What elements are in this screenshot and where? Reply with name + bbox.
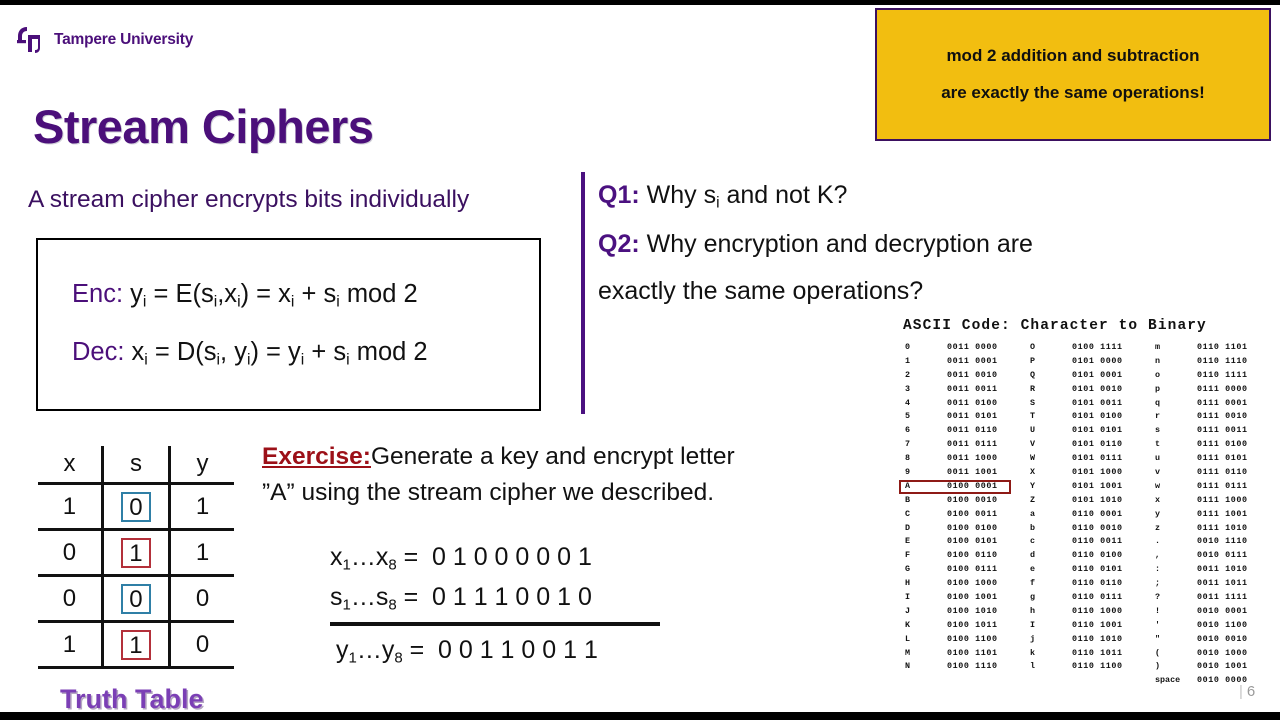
ascii-character: D <box>903 522 947 536</box>
bit-computation: x1…x8 = 0 1 0 0 0 0 0 1 s1…s8 = 0 1 1 1 … <box>330 543 690 676</box>
ascii-character: d <box>1028 549 1072 563</box>
ascii-binary: 0010 0111 <box>1197 549 1248 563</box>
ascii-row: A0100 0001 <box>903 480 1028 494</box>
cell-s: 0 <box>102 484 169 530</box>
table-row: 1 0 1 <box>38 484 234 530</box>
ascii-row: x0111 1000 <box>1153 494 1278 508</box>
ascii-character: f <box>1028 577 1072 591</box>
truth-table-header-s: s <box>102 446 169 484</box>
ascii-row: q0111 0001 <box>1153 397 1278 411</box>
ascii-binary: 0110 0001 <box>1072 508 1123 522</box>
ascii-character: X <box>1028 466 1072 480</box>
ascii-character: g <box>1028 591 1072 605</box>
ascii-binary: 0110 0011 <box>1072 535 1123 549</box>
ascii-binary: 0100 1011 <box>947 619 998 633</box>
ascii-column-3: m0110 1101n0110 1110o0110 1111p0111 0000… <box>1153 341 1278 688</box>
page-number-separator: | <box>1239 683 1243 700</box>
ascii-row: y0111 1001 <box>1153 508 1278 522</box>
ascii-binary: 0100 0100 <box>947 522 998 536</box>
ascii-row: F0100 0110 <box>903 549 1028 563</box>
ascii-binary: 0011 0110 <box>947 424 998 438</box>
ascii-binary: 0110 1010 <box>1072 633 1123 647</box>
ascii-row: k0110 1011 <box>1028 647 1153 661</box>
highlight-box-red: 1 <box>121 538 151 568</box>
ascii-row: G0100 0111 <box>903 563 1028 577</box>
ascii-row: D0100 0100 <box>903 522 1028 536</box>
ascii-row: s0111 0011 <box>1153 424 1278 438</box>
ascii-character: p <box>1153 383 1197 397</box>
ascii-row: O0100 1111 <box>1028 341 1153 355</box>
table-row: 1 1 0 <box>38 622 234 668</box>
ciphertext-bits: 0 0 1 1 0 0 1 1 <box>438 636 598 665</box>
ascii-row: C0100 0011 <box>903 508 1028 522</box>
ascii-column-2: O0100 1111P0101 0000Q0101 0001R0101 0010… <box>1028 341 1153 688</box>
ascii-column-1: 00011 000010011 000120011 001030011 0011… <box>903 341 1028 688</box>
cell-x: 1 <box>38 622 102 668</box>
ascii-character: L <box>903 633 947 647</box>
ascii-row: J0100 1010 <box>903 605 1028 619</box>
ascii-character: H <box>903 577 947 591</box>
truth-table-header-row: x s y <box>38 446 234 484</box>
page-number-value: 6 <box>1247 683 1255 700</box>
ascii-character: A <box>903 480 947 494</box>
formula-box: Enc: yi = E(si,xi) = xi + si mod 2 Dec: … <box>36 238 541 411</box>
ascii-row: r0111 0010 <box>1153 410 1278 424</box>
ascii-row: U0101 0101 <box>1028 424 1153 438</box>
ascii-binary: 0100 0001 <box>947 480 998 494</box>
question-2-continued: exactly the same operations? <box>598 276 1158 307</box>
ascii-binary: 0110 1001 <box>1072 619 1123 633</box>
ascii-binary: 0100 0111 <box>947 563 998 577</box>
q2-tag: Q2: <box>598 230 640 258</box>
ascii-binary: 0111 0101 <box>1197 452 1248 466</box>
ascii-character: U <box>1028 424 1072 438</box>
ascii-binary: 0011 0111 <box>947 438 998 452</box>
ascii-character: K <box>903 619 947 633</box>
ascii-binary: 0011 1011 <box>1197 577 1248 591</box>
ascii-row: ?0011 1111 <box>1153 591 1278 605</box>
ascii-character: Z <box>1028 494 1072 508</box>
ascii-character: 6 <box>903 424 947 438</box>
ciphertext-label: y1…y8 = <box>336 636 438 667</box>
ascii-row: t0111 0100 <box>1153 438 1278 452</box>
keystream-bits: 0 1 1 1 0 0 1 0 <box>432 583 592 612</box>
ascii-character: B <box>903 494 947 508</box>
ascii-row: (0010 1000 <box>1153 647 1278 661</box>
ascii-row: H0100 1000 <box>903 577 1028 591</box>
ascii-character: F <box>903 549 947 563</box>
ascii-row: )0010 1001 <box>1153 660 1278 674</box>
ascii-row: b0110 0010 <box>1028 522 1153 536</box>
ascii-character: o <box>1153 369 1197 383</box>
ascii-character: z <box>1153 522 1197 536</box>
ciphertext-bits-row: y1…y8 = 0 0 1 1 0 0 1 1 <box>336 636 690 667</box>
ascii-row: j0110 1010 <box>1028 633 1153 647</box>
ascii-binary: 0100 1111 <box>1072 341 1123 355</box>
truth-table-caption: Truth Table <box>60 684 204 715</box>
ascii-character: ' <box>1153 619 1197 633</box>
page-title: Stream Ciphers <box>33 99 373 154</box>
question-2: Q2: Why encryption and decryption are <box>598 229 1158 260</box>
ascii-row: B0100 0010 <box>903 494 1028 508</box>
ascii-character: 1 <box>903 355 947 369</box>
ascii-character: " <box>1153 633 1197 647</box>
ascii-binary: 0011 0100 <box>947 397 998 411</box>
cell-y: 1 <box>170 484 234 530</box>
ascii-row: 20011 0010 <box>903 369 1028 383</box>
ascii-character: 0 <box>903 341 947 355</box>
highlight-box-blue: 0 <box>121 492 151 522</box>
ascii-binary: 0011 1111 <box>1197 591 1248 605</box>
ascii-binary: 0101 0110 <box>1072 438 1123 452</box>
ascii-row: 70011 0111 <box>903 438 1028 452</box>
truth-table: x s y 1 0 1 0 1 1 0 0 0 1 1 0 <box>38 446 234 669</box>
ascii-row: 30011 0011 <box>903 383 1028 397</box>
ascii-character: 7 <box>903 438 947 452</box>
ascii-row: e0110 0101 <box>1028 563 1153 577</box>
ascii-binary: 0111 1010 <box>1197 522 1248 536</box>
ascii-row: space0010 0000 <box>1153 674 1278 688</box>
exercise-line-2: ”A” using the stream cipher we described… <box>262 477 862 508</box>
ascii-row: 50011 0101 <box>903 410 1028 424</box>
ascii-table-title: ASCII Code: Character to Binary <box>903 318 1278 334</box>
ascii-row: X0101 1000 <box>1028 466 1153 480</box>
ascii-row: 80011 1000 <box>903 452 1028 466</box>
ascii-character: I <box>903 591 947 605</box>
ascii-row: I0100 1001 <box>903 591 1028 605</box>
ascii-row: 90011 1001 <box>903 466 1028 480</box>
ascii-character: v <box>1153 466 1197 480</box>
ascii-binary: 0011 1000 <box>947 452 998 466</box>
ascii-binary: 0100 1100 <box>947 633 998 647</box>
ascii-row: I0110 1001 <box>1028 619 1153 633</box>
ascii-row: Y0101 1001 <box>1028 480 1153 494</box>
ascii-character: j <box>1028 633 1072 647</box>
ascii-binary: 0100 1101 <box>947 647 998 661</box>
logo-text: Tampere University <box>54 31 193 49</box>
ascii-character: 3 <box>903 383 947 397</box>
ascii-binary: 0011 0011 <box>947 383 998 397</box>
ascii-character: ( <box>1153 647 1197 661</box>
cell-y: 0 <box>170 622 234 668</box>
ascii-character: W <box>1028 452 1072 466</box>
ascii-character: 4 <box>903 397 947 411</box>
ascii-row: p0111 0000 <box>1153 383 1278 397</box>
plaintext-bits: 0 1 0 0 0 0 0 1 <box>432 543 592 572</box>
ascii-row: z0111 1010 <box>1153 522 1278 536</box>
top-letterbox-bar <box>0 0 1280 5</box>
ascii-character: a <box>1028 508 1072 522</box>
ascii-character: C <box>903 508 947 522</box>
ascii-character: E <box>903 535 947 549</box>
slide-root: Tampere University mod 2 addition and su… <box>0 0 1280 720</box>
q1-tag: Q1: <box>598 181 640 209</box>
ascii-row: ;0011 1011 <box>1153 577 1278 591</box>
encryption-formula: Enc: yi = E(si,xi) = xi + si mod 2 <box>38 280 539 312</box>
ascii-character: M <box>903 647 947 661</box>
ascii-character: b <box>1028 522 1072 536</box>
ascii-row: c0110 0011 <box>1028 535 1153 549</box>
ascii-character: P <box>1028 355 1072 369</box>
ascii-binary: 0110 1011 <box>1072 647 1123 661</box>
ascii-binary: 0011 0000 <box>947 341 998 355</box>
callout-box: mod 2 addition and subtraction are exact… <box>875 8 1271 141</box>
ascii-character: T <box>1028 410 1072 424</box>
ascii-row: v0111 0110 <box>1153 466 1278 480</box>
ascii-row: !0010 0001 <box>1153 605 1278 619</box>
ascii-binary: 0111 0011 <box>1197 424 1248 438</box>
ascii-character: u <box>1153 452 1197 466</box>
callout-line-2: are exactly the same operations! <box>941 84 1205 103</box>
ascii-character: space <box>1153 674 1197 688</box>
ascii-binary: 0110 1111 <box>1197 369 1248 383</box>
ascii-binary: 0010 1100 <box>1197 619 1248 633</box>
ascii-character: 9 <box>903 466 947 480</box>
plaintext-bits-row: x1…x8 = 0 1 0 0 0 0 0 1 <box>330 543 690 574</box>
ascii-row: 10011 0001 <box>903 355 1028 369</box>
ascii-character: 8 <box>903 452 947 466</box>
ascii-binary: 0100 0101 <box>947 535 998 549</box>
ascii-character: G <box>903 563 947 577</box>
ascii-character: : <box>1153 563 1197 577</box>
ascii-binary: 0110 0110 <box>1072 577 1123 591</box>
ascii-character: J <box>903 605 947 619</box>
question-1: Q1: Why si and not K? <box>598 180 1158 213</box>
truth-table-header-y: y <box>170 446 234 484</box>
vertical-divider <box>581 172 585 414</box>
ascii-row: E0100 0101 <box>903 535 1028 549</box>
ascii-row: w0111 0111 <box>1153 480 1278 494</box>
ascii-character: c <box>1028 535 1072 549</box>
ascii-binary: 0110 0100 <box>1072 549 1123 563</box>
ascii-row: :0011 1010 <box>1153 563 1278 577</box>
ascii-character: O <box>1028 341 1072 355</box>
ascii-binary: 0110 1000 <box>1072 605 1123 619</box>
ascii-binary: 0101 1010 <box>1072 494 1123 508</box>
exercise-line-1: Exercise:Generate a key and encrypt lett… <box>262 441 862 472</box>
ascii-binary: 0100 0110 <box>947 549 998 563</box>
ascii-character: 5 <box>903 410 947 424</box>
ascii-binary: 0101 1000 <box>1072 466 1123 480</box>
ascii-binary: 0010 1000 <box>1197 647 1248 661</box>
ascii-binary: 0111 0001 <box>1197 397 1248 411</box>
ascii-row: P0101 0000 <box>1028 355 1153 369</box>
ascii-table: ASCII Code: Character to Binary 00011 00… <box>903 318 1278 688</box>
ascii-character: ? <box>1153 591 1197 605</box>
ascii-character: Q <box>1028 369 1072 383</box>
cell-y: 1 <box>170 530 234 576</box>
highlight-box-blue: 0 <box>121 584 151 614</box>
ascii-row: m0110 1101 <box>1153 341 1278 355</box>
questions-block: Q1: Why si and not K? Q2: Why encryption… <box>598 180 1158 324</box>
ascii-row: L0100 1100 <box>903 633 1028 647</box>
exercise-block: Exercise:Generate a key and encrypt lett… <box>262 441 862 514</box>
ascii-binary: 0111 1000 <box>1197 494 1248 508</box>
ascii-binary: 0100 1110 <box>947 660 998 674</box>
ascii-binary: 0111 1001 <box>1197 508 1248 522</box>
ascii-character: m <box>1153 341 1197 355</box>
ascii-row: h0110 1000 <box>1028 605 1153 619</box>
ascii-character: N <box>903 660 947 674</box>
ascii-binary: 0110 0010 <box>1072 522 1123 536</box>
ascii-row: "0010 0010 <box>1153 633 1278 647</box>
ascii-character: , <box>1153 549 1197 563</box>
keystream-label: s1…s8 = <box>330 583 432 614</box>
ascii-character: I <box>1028 619 1072 633</box>
exercise-tag: Exercise: <box>262 443 371 470</box>
ascii-binary: 0110 1110 <box>1197 355 1248 369</box>
ascii-character: q <box>1153 397 1197 411</box>
ascii-row: Z0101 1010 <box>1028 494 1153 508</box>
sum-divider-rule <box>330 622 660 626</box>
cell-s: 0 <box>102 576 169 622</box>
ascii-binary: 0100 1010 <box>947 605 998 619</box>
enc-expression: yi = E(si,xi) = xi + si mod 2 <box>130 280 418 308</box>
truth-table-grid: x s y 1 0 1 0 1 1 0 0 0 1 1 0 <box>38 446 234 669</box>
ascii-row: ,0010 0111 <box>1153 549 1278 563</box>
ascii-row: T0101 0100 <box>1028 410 1153 424</box>
ascii-binary: 0111 0010 <box>1197 410 1248 424</box>
ascii-binary: 0011 0101 <box>947 410 998 424</box>
ascii-character: ) <box>1153 660 1197 674</box>
ascii-binary: 0101 0101 <box>1072 424 1123 438</box>
cell-x: 0 <box>38 530 102 576</box>
ascii-binary: 0100 1000 <box>947 577 998 591</box>
ascii-row: K0100 1011 <box>903 619 1028 633</box>
ascii-character: x <box>1153 494 1197 508</box>
ascii-binary: 0010 1110 <box>1197 535 1248 549</box>
decryption-formula: Dec: xi = D(si, yi) = yi + si mod 2 <box>38 338 539 370</box>
cell-s: 1 <box>102 622 169 668</box>
ascii-binary: 0101 0010 <box>1072 383 1123 397</box>
ascii-character: e <box>1028 563 1072 577</box>
subtitle: A stream cipher encrypts bits individual… <box>28 186 469 214</box>
ascii-character: R <box>1028 383 1072 397</box>
ascii-row: 40011 0100 <box>903 397 1028 411</box>
table-row: 0 0 0 <box>38 576 234 622</box>
dec-expression: xi = D(si, yi) = yi + si mod 2 <box>132 338 428 366</box>
ascii-row: l0110 1100 <box>1028 660 1153 674</box>
ascii-character: S <box>1028 397 1072 411</box>
ascii-binary: 0010 0010 <box>1197 633 1248 647</box>
table-row: 0 1 1 <box>38 530 234 576</box>
ascii-binary: 0010 0001 <box>1197 605 1248 619</box>
ascii-binary: 0011 1001 <box>947 466 998 480</box>
keystream-bits-row: s1…s8 = 0 1 1 1 0 0 1 0 <box>330 583 690 614</box>
ascii-binary: 0101 1001 <box>1072 480 1123 494</box>
ascii-row: n0110 1110 <box>1153 355 1278 369</box>
cell-x: 1 <box>38 484 102 530</box>
ascii-character: t <box>1153 438 1197 452</box>
cell-x: 0 <box>38 576 102 622</box>
ascii-row: R0101 0010 <box>1028 383 1153 397</box>
cell-y: 0 <box>170 576 234 622</box>
ascii-binary: 0111 0100 <box>1197 438 1248 452</box>
ascii-binary: 0101 0100 <box>1072 410 1123 424</box>
ascii-character: ; <box>1153 577 1197 591</box>
ascii-row: f0110 0110 <box>1028 577 1153 591</box>
truth-table-header-x: x <box>38 446 102 484</box>
plaintext-label: x1…x8 = <box>330 543 432 574</box>
ascii-binary: 0110 1100 <box>1072 660 1123 674</box>
ascii-character: ! <box>1153 605 1197 619</box>
ascii-binary: 0011 0001 <box>947 355 998 369</box>
page-number: |6 <box>1239 683 1255 700</box>
ascii-character: s <box>1153 424 1197 438</box>
ascii-row: 00011 0000 <box>903 341 1028 355</box>
ascii-binary: 0111 0111 <box>1197 480 1248 494</box>
ascii-row: o0110 1111 <box>1153 369 1278 383</box>
ascii-binary: 0110 0101 <box>1072 563 1123 577</box>
highlight-box-red: 1 <box>121 630 151 660</box>
ascii-binary: 0100 1001 <box>947 591 998 605</box>
ascii-character: h <box>1028 605 1072 619</box>
ascii-character: V <box>1028 438 1072 452</box>
ascii-row: S0101 0011 <box>1028 397 1153 411</box>
ascii-binary: 0011 1010 <box>1197 563 1248 577</box>
exercise-text: Generate a key and encrypt letter <box>371 443 735 470</box>
ascii-row: M0100 1101 <box>903 647 1028 661</box>
ascii-character: . <box>1153 535 1197 549</box>
bottom-letterbox-bar <box>0 712 1280 720</box>
callout-line-1: mod 2 addition and subtraction <box>946 47 1199 66</box>
ascii-row: Q0101 0001 <box>1028 369 1153 383</box>
ascii-binary: 0101 0001 <box>1072 369 1123 383</box>
ascii-character: Y <box>1028 480 1072 494</box>
ascii-row: .0010 1110 <box>1153 535 1278 549</box>
ascii-row: 60011 0110 <box>903 424 1028 438</box>
ascii-binary: 0111 0110 <box>1197 466 1248 480</box>
ascii-row: V0101 0110 <box>1028 438 1153 452</box>
ascii-binary: 0111 0000 <box>1197 383 1248 397</box>
university-mark-icon <box>14 24 48 56</box>
ascii-character: n <box>1153 355 1197 369</box>
ascii-binary: 0101 0000 <box>1072 355 1123 369</box>
ascii-row: N0100 1110 <box>903 660 1028 674</box>
cell-s: 1 <box>102 530 169 576</box>
ascii-character: k <box>1028 647 1072 661</box>
dec-label: Dec: <box>72 338 124 366</box>
ascii-row: W0101 0111 <box>1028 452 1153 466</box>
ascii-row: u0111 0101 <box>1153 452 1278 466</box>
ascii-binary: 0100 0010 <box>947 494 998 508</box>
enc-label: Enc: <box>72 280 123 308</box>
ascii-binary: 0101 0011 <box>1072 397 1123 411</box>
ascii-row: d0110 0100 <box>1028 549 1153 563</box>
ascii-binary: 0101 0111 <box>1072 452 1123 466</box>
ascii-binary: 0011 0010 <box>947 369 998 383</box>
ascii-binary: 0110 1101 <box>1197 341 1248 355</box>
ascii-columns: 00011 000010011 000120011 001030011 0011… <box>903 341 1278 688</box>
ascii-character: l <box>1028 660 1072 674</box>
ascii-character: r <box>1153 410 1197 424</box>
ascii-row: g0110 0111 <box>1028 591 1153 605</box>
ascii-character: y <box>1153 508 1197 522</box>
ascii-binary: 0100 0011 <box>947 508 998 522</box>
ascii-binary: 0010 1001 <box>1197 660 1248 674</box>
tampere-university-logo: Tampere University <box>14 24 193 56</box>
ascii-binary: 0110 0111 <box>1072 591 1123 605</box>
ascii-character: 2 <box>903 369 947 383</box>
ascii-character: w <box>1153 480 1197 494</box>
ascii-row: '0010 1100 <box>1153 619 1278 633</box>
ascii-row: a0110 0001 <box>1028 508 1153 522</box>
